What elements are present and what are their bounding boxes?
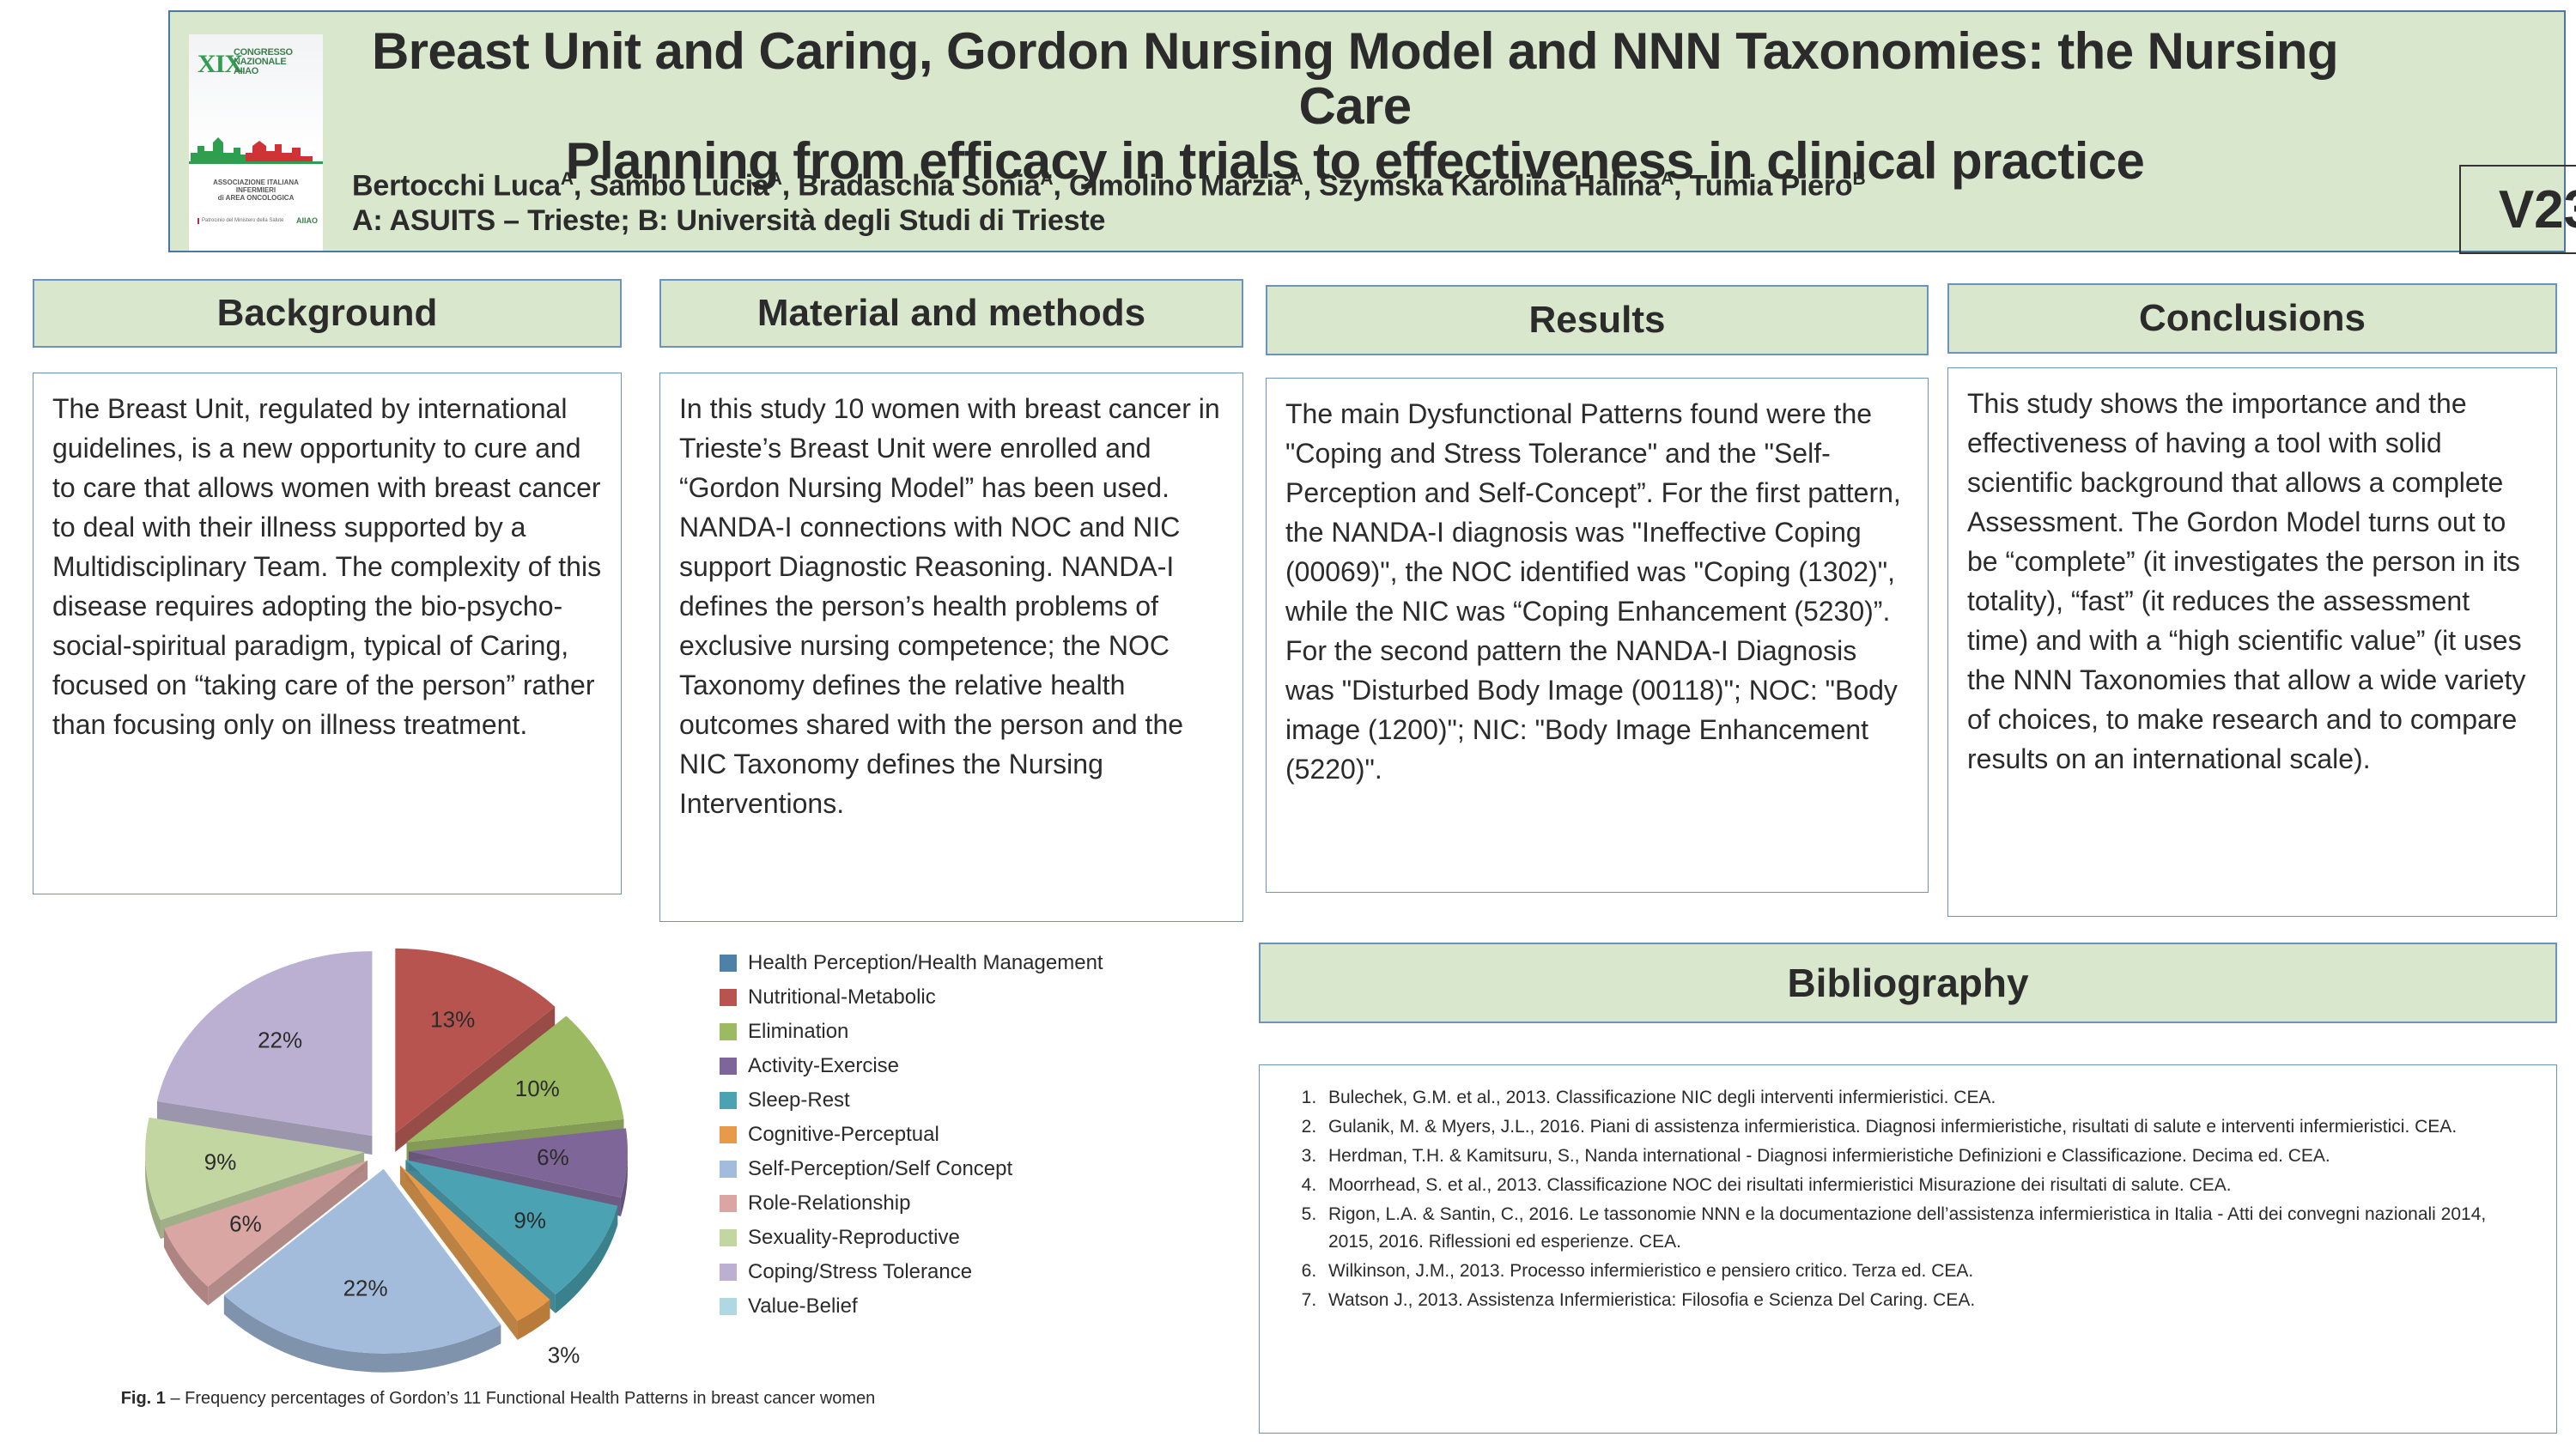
legend-swatch xyxy=(720,1126,737,1143)
chart-legend: Health Perception/Health ManagementNutri… xyxy=(720,946,1235,1324)
legend-swatch xyxy=(720,1229,737,1246)
pie-slice-label: 6% xyxy=(537,1144,569,1170)
version-badge: V23 xyxy=(2459,165,2576,254)
legend-item: Role-Relationship xyxy=(720,1186,1235,1221)
conference-logo-lines: CONGRESSO NAZIONALE AIIAO xyxy=(234,48,319,76)
legend-swatch xyxy=(720,1092,737,1109)
legend-swatch xyxy=(720,1264,737,1281)
pie-slice-label: 22% xyxy=(343,1275,388,1300)
conference-logo-footer: Patrocinio del Ministero della Salute AI… xyxy=(197,216,318,225)
section-heading-bibliography: Bibliography xyxy=(1259,943,2557,1023)
pie-slice-label: 22% xyxy=(258,1028,302,1053)
pie-slice-label: 9% xyxy=(204,1149,237,1174)
conference-logo-subtitle-b: di AREA ONCOLOGICA xyxy=(204,194,307,202)
legend-item: Nutritional-Metabolic xyxy=(720,980,1235,1015)
section-heading-results: Results xyxy=(1266,285,1929,355)
legend-label: Health Perception/Health Management xyxy=(748,953,1103,973)
bibliography-item: Gulanik, M. & Myers, J.L., 2016. Piani d… xyxy=(1321,1113,2534,1141)
legend-item: Self-Perception/Self Concept xyxy=(720,1152,1235,1186)
author-list: Bertocchi LucaA, Sambo LuciaA, Bradaschi… xyxy=(352,161,2396,203)
legend-label: Activity-Exercise xyxy=(748,1056,899,1076)
pie-slice-label: 6% xyxy=(229,1211,262,1237)
legend-item: Sexuality-Reproductive xyxy=(720,1221,1235,1255)
section-body-conclusions: This study shows the importance and the … xyxy=(1947,367,2557,917)
pie-chart-svg: 13%10%6%9%3%22%6%9%22% xyxy=(103,936,704,1382)
legend-item: Sleep-Rest xyxy=(720,1083,1235,1118)
section-body-results: The main Dysfunctional Patterns found we… xyxy=(1266,378,1929,893)
bibliography-item: Herdman, T.H. & Kamitsuru, S., Nanda int… xyxy=(1321,1143,2534,1170)
page-title-line-1: Breast Unit and Caring, Gordon Nursing M… xyxy=(342,24,2368,134)
affiliation: A: ASUITS – Trieste; B: Università degl… xyxy=(352,203,2396,239)
legend-swatch xyxy=(720,1195,737,1212)
bibliography-item: Wilkinson, J.M., 2013. Processo infermie… xyxy=(1321,1258,2534,1285)
pie-slice-label: 3% xyxy=(548,1342,580,1367)
legend-item: Activity-Exercise xyxy=(720,1049,1235,1083)
pie-chart: 13%10%6%9%3%22%6%9%22% xyxy=(103,936,704,1382)
section-body-bibliography: Bulechek, G.M. et al., 2013. Classificaz… xyxy=(1259,1064,2557,1434)
legend-item: Elimination xyxy=(720,1015,1235,1049)
legend-label: Value-Belief xyxy=(748,1296,858,1317)
section-heading-background: Background xyxy=(33,279,622,348)
legend-label: Nutritional-Metabolic xyxy=(748,987,936,1008)
legend-item: Health Perception/Health Management xyxy=(720,946,1235,980)
conference-logo-footer-right: AIIAO xyxy=(296,216,318,225)
figure-1: 13%10%6%9%3%22%6%9%22% Health Perception… xyxy=(103,936,1236,1416)
bibliography-item: Rigon, L.A. & Santin, C., 2016. Le tasso… xyxy=(1321,1201,2534,1256)
legend-label: Elimination xyxy=(748,1022,848,1042)
figure-caption: Fig. 1 – Frequency percentages of Gordon… xyxy=(121,1389,876,1409)
bibliography-list: Bulechek, G.M. et al., 2013. Classificaz… xyxy=(1282,1084,2534,1314)
legend-label: Coping/Stress Tolerance xyxy=(748,1262,972,1282)
section-body-material: In this study 10 women with breast cance… xyxy=(659,373,1243,922)
legend-swatch xyxy=(720,1161,737,1178)
legend-label: Cognitive-Perceptual xyxy=(748,1125,939,1145)
legend-label: Self-Perception/Self Concept xyxy=(748,1159,1012,1179)
legend-item: Coping/Stress Tolerance xyxy=(720,1255,1235,1289)
conference-logo-subtitle: ASSOCIAZIONE ITALIANA INFERMIERI di AREA… xyxy=(204,179,307,202)
legend-item: Cognitive-Perceptual xyxy=(720,1118,1235,1152)
section-heading-conclusions: Conclusions xyxy=(1947,283,2557,354)
figure-caption-text: – Frequency percentages of Gordon’s 11 F… xyxy=(166,1389,875,1408)
bibliography-item: Watson J., 2013. Assistenza Infermierist… xyxy=(1321,1287,2534,1314)
bibliography-item: Moorrhead, S. et al., 2013. Classificazi… xyxy=(1321,1172,2534,1199)
section-heading-material: Material and methods xyxy=(659,279,1243,348)
legend-swatch xyxy=(720,1298,737,1315)
pie-slice-label: 9% xyxy=(513,1207,546,1233)
legend-swatch xyxy=(720,955,737,972)
legend-item: Value-Belief xyxy=(720,1289,1235,1324)
legend-swatch xyxy=(720,1023,737,1040)
bibliography-item: Bulechek, G.M. et al., 2013. Classificaz… xyxy=(1321,1084,2534,1112)
legend-swatch xyxy=(720,1058,737,1075)
legend-swatch xyxy=(720,989,737,1006)
skyline-graphic xyxy=(189,127,323,165)
figure-caption-prefix: Fig. 1 xyxy=(121,1389,166,1408)
section-body-background: The Breast Unit, regulated by internatio… xyxy=(33,373,622,894)
legend-label: Role-Relationship xyxy=(748,1193,910,1214)
legend-label: Sexuality-Reproductive xyxy=(748,1228,960,1248)
conference-logo: XIX CONGRESSO NAZIONALE AIIAO ASSOCIAZIO… xyxy=(189,34,323,251)
conference-logo-footer-left: Patrocinio del Ministero della Salute xyxy=(197,218,283,224)
pie-slice-label: 10% xyxy=(515,1076,560,1101)
legend-label: Sleep-Rest xyxy=(748,1090,850,1111)
poster-header-band: XIX CONGRESSO NAZIONALE AIIAO ASSOCIAZIO… xyxy=(168,10,2566,252)
pie-slice-label: 13% xyxy=(430,1007,475,1033)
conference-logo-line3: AIIAO xyxy=(234,67,319,76)
conference-logo-subtitle-a: ASSOCIAZIONE ITALIANA INFERMIERI xyxy=(204,179,307,194)
